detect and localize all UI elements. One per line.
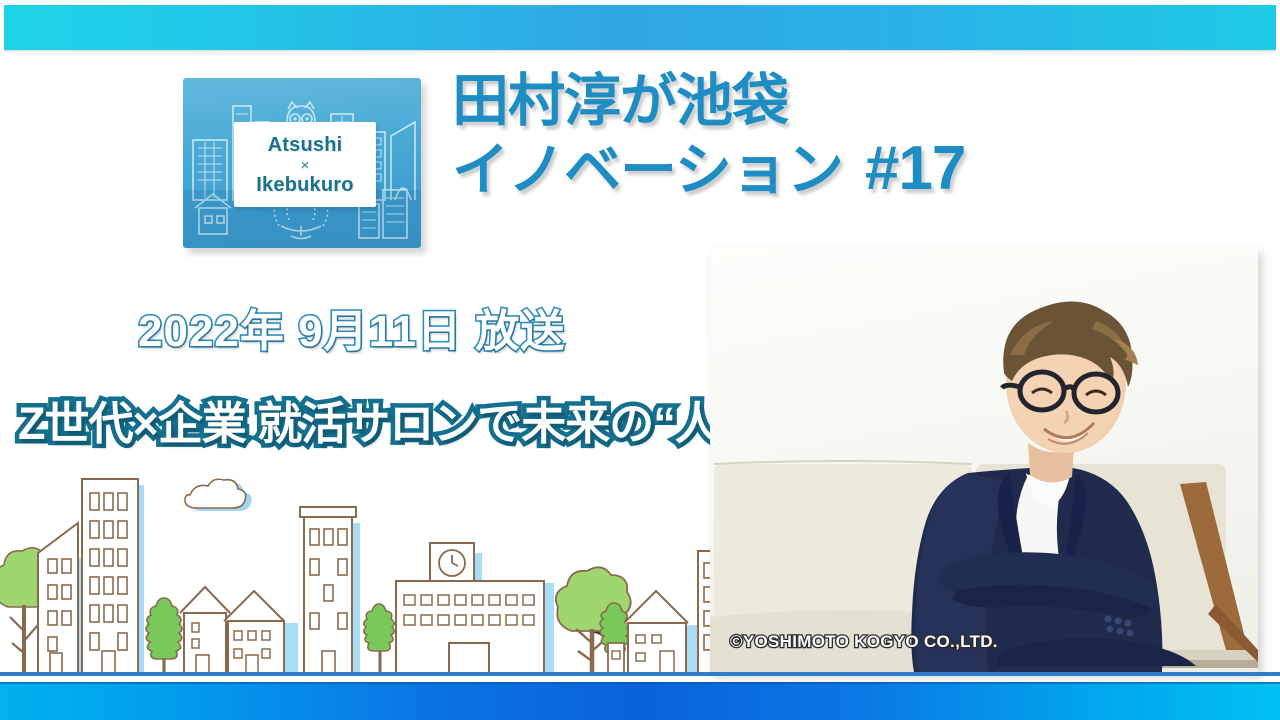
episode-number: #17 [865,134,965,203]
pine-tree-icon [146,598,182,675]
title-line-2: イノベーション [452,138,843,202]
bottom-band-top-line [0,682,1280,684]
bottom-gradient-band [0,682,1280,720]
guest-portrait-figure [710,247,1258,672]
title-line-2-wrap: イノベーション#17 [452,140,1152,199]
copyright-notice: ©YOSHIMOTO KOGYO CO.,LTD. [730,632,998,652]
logo-inner-card: Atsushi × Ikebukuro [234,122,376,207]
cloud-icon [185,479,252,511]
school-clock-building-icon [396,543,554,674]
office-building-icon [300,507,360,674]
cityscape-illustration [0,455,760,677]
pine-tree-icon [364,604,395,675]
program-logo-card: Atsushi × Ikebukuro [183,78,421,248]
guest-photo [710,247,1258,672]
logo-line-ikebukuro: Ikebukuro [256,175,353,195]
tall-building-icon [82,479,144,674]
air-date-text: 2022年 9月11日 放送 [138,295,565,359]
title-line-1: 田村淳が池袋 [452,72,1152,130]
logo-line-atsushi: Atsushi [268,135,343,155]
top-gradient-band [4,5,1276,50]
program-title: 田村淳が池袋 イノベーション#17 [452,72,1152,199]
logo-cross-symbol: × [301,158,310,173]
top-band-shadow [4,50,1276,53]
bottom-divider-line [0,672,1280,676]
house-icon [224,591,298,674]
